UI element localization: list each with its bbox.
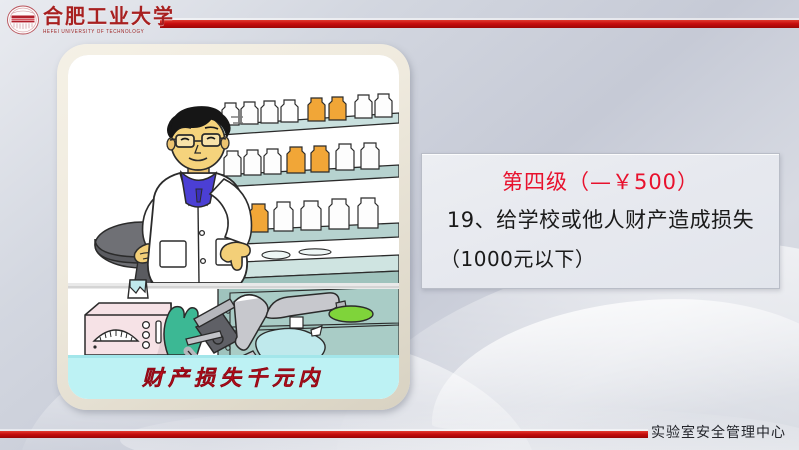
footer-department-label: 实验室安全管理中心 [651,422,786,442]
penalty-description-line-1: 19、给学校或他人财产造成损失 [430,204,771,234]
logo-text-block: 合肥工业大学 HEFEI UNIVERSITY OF TECHNOLOGY [43,6,175,34]
penalty-level-title: 第四级（—￥500） [430,166,771,196]
header-red-bar [160,20,799,28]
footer-red-bar [0,431,648,438]
background-swoosh-3 [428,293,799,438]
penalty-description-line-2: （1000元以下） [430,243,771,272]
logo-chinese-name: 合肥工业大学 [43,6,175,26]
slide-canvas: 合肥工业大学 HEFEI UNIVERSITY OF TECHNOLOGY [0,0,799,450]
header-bar-highlight [160,18,799,20]
logo-english-name: HEFEI UNIVERSITY OF TECHNOLOGY [43,29,175,35]
illustration-frame: 财产损失千元内 [57,44,410,410]
university-logo: 合肥工业大学 HEFEI UNIVERSITY OF TECHNOLOGY [6,3,175,37]
university-seal-icon [6,3,40,37]
lab-accident-cartoon: 财产损失千元内 [68,55,399,399]
illustration-caption-text: 财产损失千元内 [141,365,324,390]
illustration-inner: 财产损失千元内 [68,55,399,399]
info-text-panel: 第四级（—￥500） 19、给学校或他人财产造成损失 （1000元以下） [421,153,780,289]
